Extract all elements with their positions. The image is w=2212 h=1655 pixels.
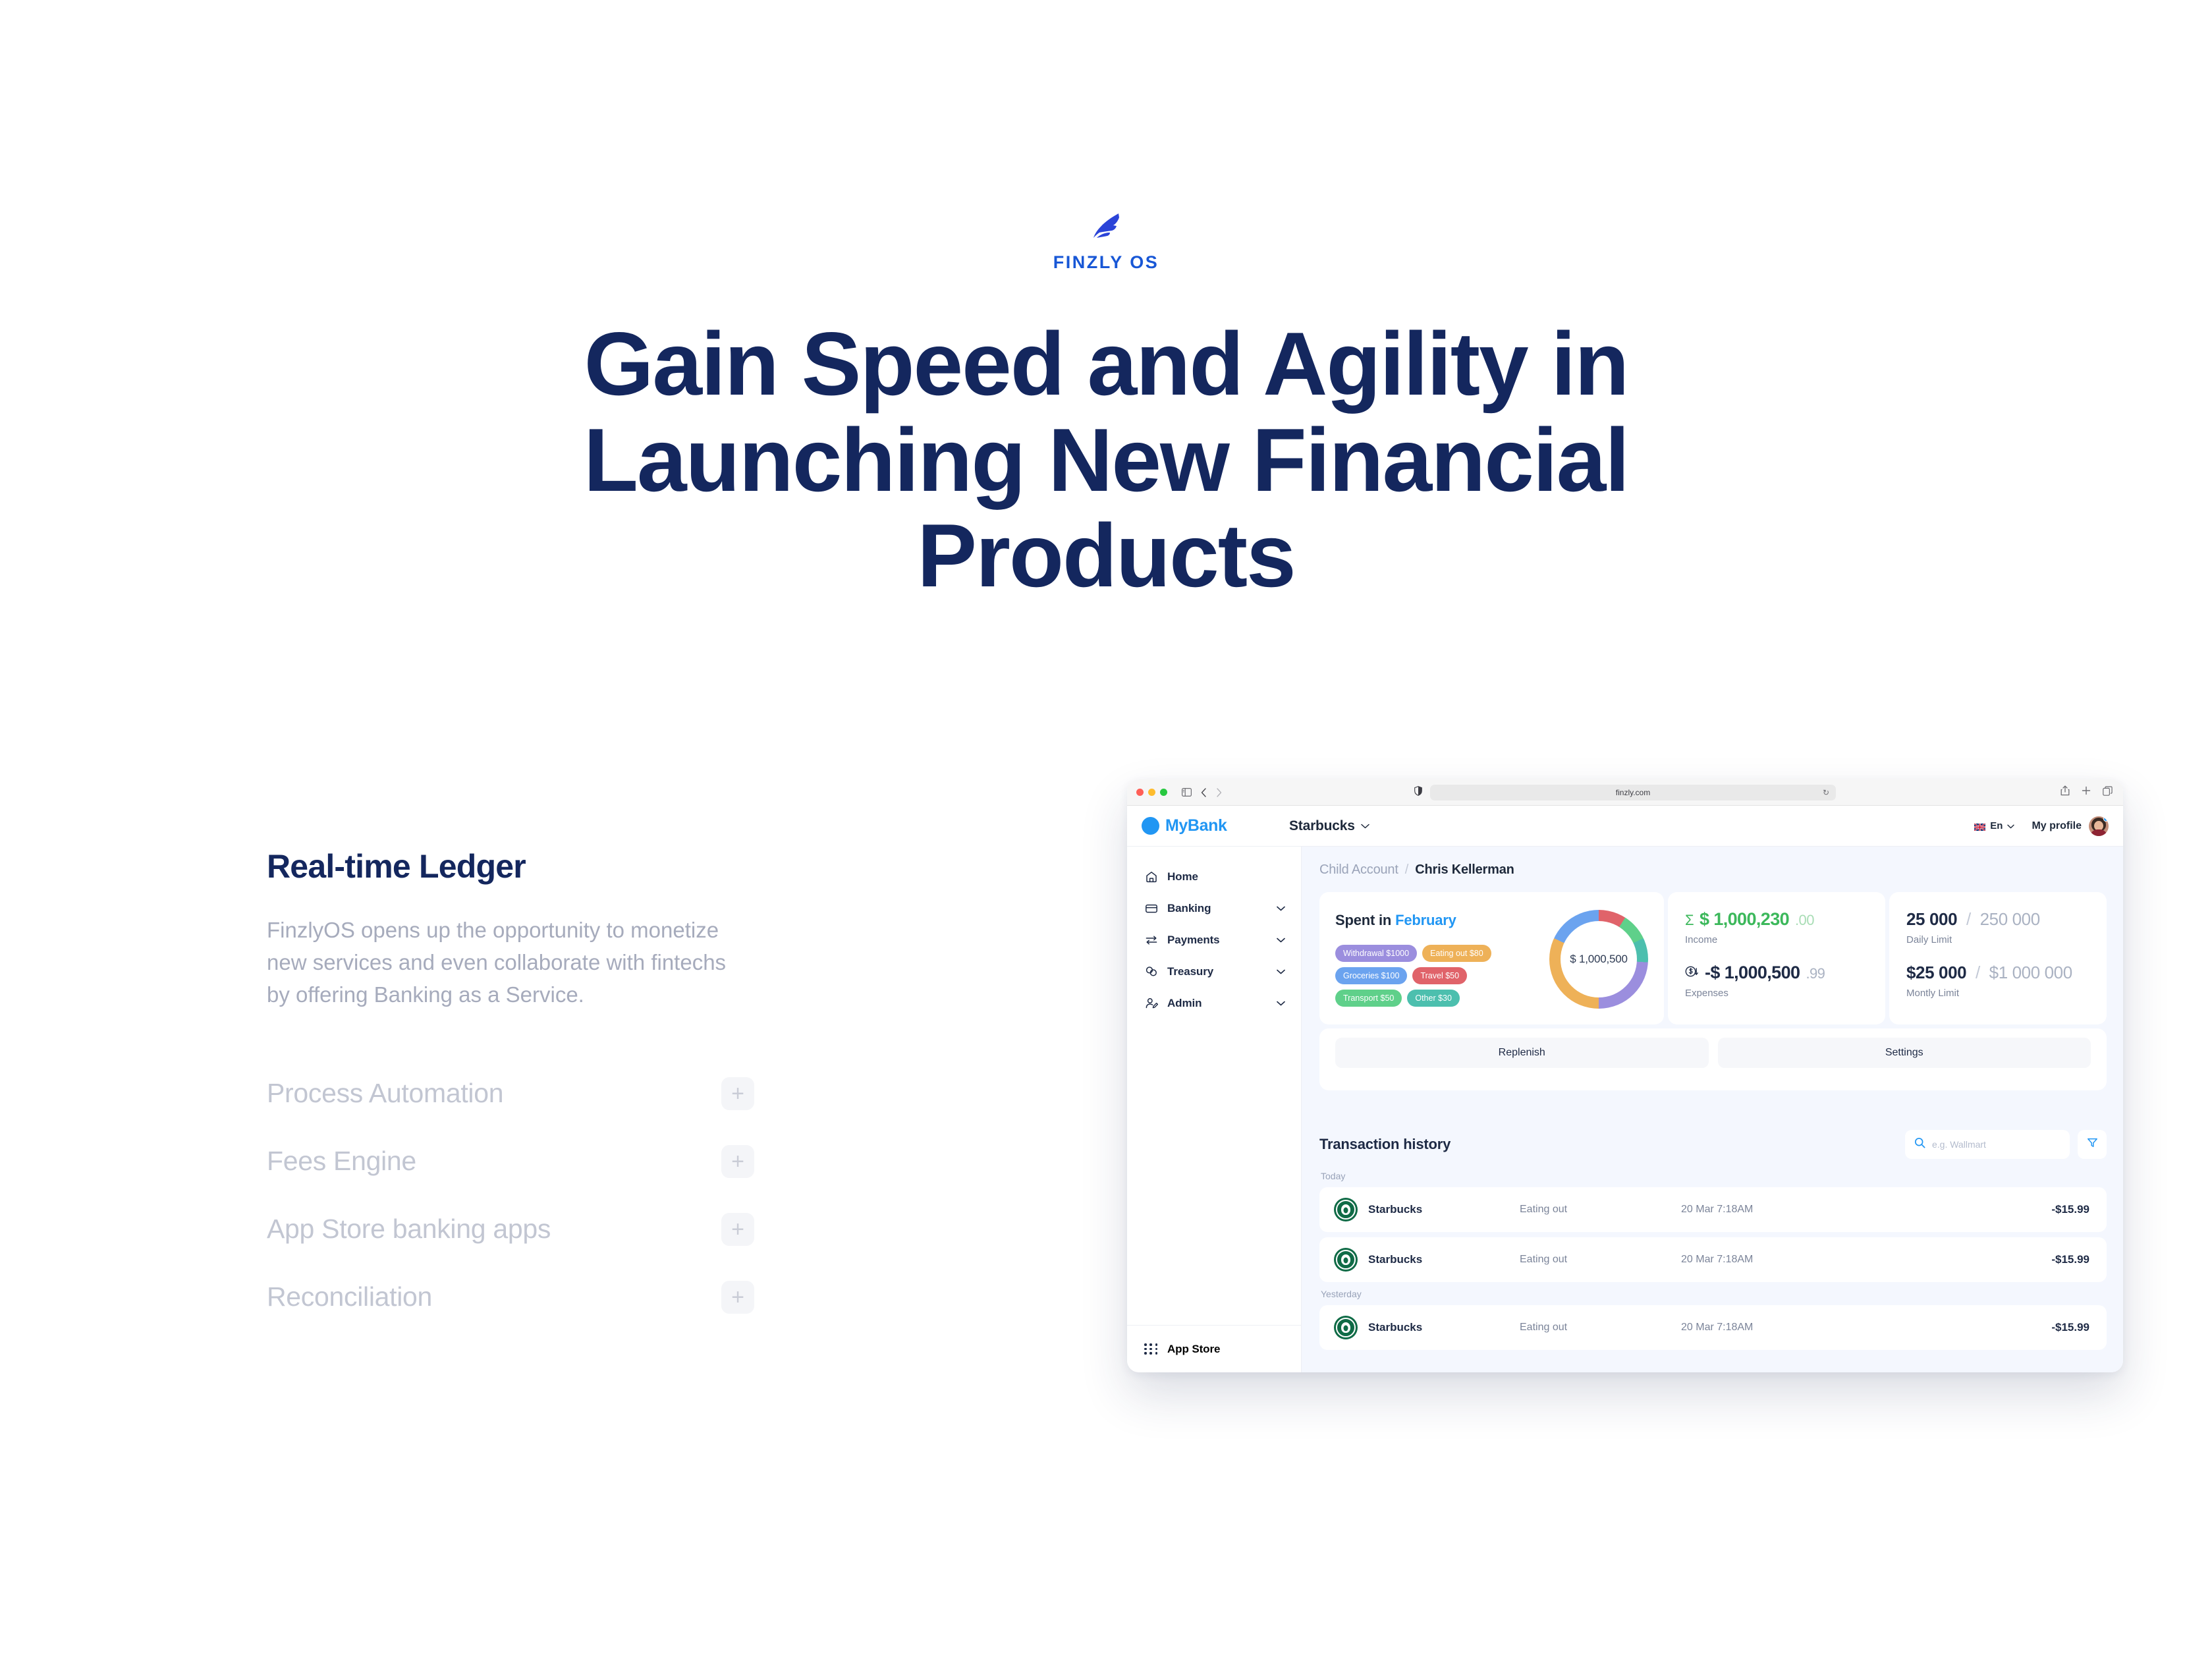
limit-separator: / bbox=[1976, 963, 1980, 982]
brand-name: FINZLY OS bbox=[0, 252, 2212, 273]
sidebar: Home Banking bbox=[1127, 847, 1302, 1372]
category-tag[interactable]: Travel $50 bbox=[1412, 967, 1467, 984]
daily-limit-max: 250 000 bbox=[1980, 909, 2040, 929]
mybank-logo-text: MyBank bbox=[1165, 816, 1227, 835]
user-edit-icon bbox=[1144, 996, 1159, 1011]
expenses-cents: .99 bbox=[1806, 965, 1825, 982]
feature-title: Real-time Ledger bbox=[267, 847, 754, 885]
tabs-icon[interactable] bbox=[2103, 786, 2113, 799]
sidebar-item-label: App Store bbox=[1167, 1343, 1301, 1356]
transaction-date: 20 Mar 7:18AM bbox=[1681, 1204, 1846, 1216]
spending-title-month: February bbox=[1395, 912, 1456, 928]
search-input[interactable]: e.g. Wallmart bbox=[1905, 1130, 2070, 1159]
avatar-body bbox=[2090, 829, 2107, 836]
daily-limit-stat: 25 000 / 250 000 Daily Limit bbox=[1906, 909, 2089, 945]
coins-icon bbox=[1144, 965, 1159, 979]
profile-menu[interactable]: My profile bbox=[2032, 816, 2109, 836]
account-actions: Replenish Settings bbox=[1319, 1028, 2107, 1090]
sigma-icon: Σ bbox=[1685, 912, 1694, 929]
home-icon bbox=[1144, 870, 1159, 884]
feature-description: FinzlyOS opens up the opportunity to mon… bbox=[267, 914, 754, 1011]
category-tag[interactable]: Withdrawal $1000 bbox=[1335, 945, 1417, 962]
transaction-merchant: Starbucks bbox=[1368, 1253, 1520, 1266]
income-value: $ 1,000,230 bbox=[1700, 909, 1789, 930]
sidebar-item-label: Banking bbox=[1167, 902, 1268, 915]
breadcrumb-current: Chris Kellerman bbox=[1415, 862, 1514, 878]
chevron-down-icon[interactable] bbox=[1277, 906, 1285, 911]
transaction-day-label: Yesterday bbox=[1321, 1289, 2107, 1299]
income-stat: Σ $ 1,000,230 .00 Income bbox=[1685, 909, 1868, 945]
category-tag[interactable]: Groceries $100 bbox=[1335, 967, 1407, 984]
starbucks-logo bbox=[1334, 1316, 1358, 1339]
chevron-down-icon[interactable] bbox=[1361, 820, 1369, 832]
sidebar-item-app-store[interactable]: App Store bbox=[1127, 1325, 1301, 1372]
monthly-limit-label: Montly Limit bbox=[1906, 988, 2089, 999]
daily-limit-label: Daily Limit bbox=[1906, 934, 2089, 945]
spending-title-prefix: Spent in bbox=[1335, 912, 1391, 928]
plus-icon[interactable]: + bbox=[721, 1145, 754, 1178]
notification-badge bbox=[2103, 816, 2109, 822]
url-text: finzly.com bbox=[1616, 788, 1650, 797]
traffic-lights bbox=[1136, 789, 1167, 796]
chevron-down-icon[interactable] bbox=[1277, 938, 1285, 943]
accordion-label: Fees Engine bbox=[267, 1146, 416, 1177]
uk-flag-icon bbox=[1974, 822, 1985, 829]
account-switcher[interactable]: Starbucks bbox=[1289, 818, 1369, 834]
category-tags: Withdrawal $1000 Eating out $80 Grocerie… bbox=[1335, 945, 1503, 1007]
limits-card: 25 000 / 250 000 Daily Limit $25 000 / $… bbox=[1889, 892, 2107, 1024]
filter-button[interactable] bbox=[2078, 1130, 2107, 1159]
brand-logo: FINZLY OS bbox=[0, 212, 2212, 273]
accordion-item[interactable]: Fees Engine + bbox=[267, 1127, 754, 1195]
accordion-label: Reconciliation bbox=[267, 1281, 432, 1312]
sidebar-item-payments[interactable]: Payments bbox=[1127, 924, 1301, 956]
sidebar-item-banking[interactable]: Banking bbox=[1127, 893, 1301, 924]
page-title: Gain Speed and Agility in Launching New … bbox=[553, 316, 1659, 604]
sidebar-item-label: Treasury bbox=[1167, 965, 1268, 978]
settings-button[interactable]: Settings bbox=[1718, 1038, 2091, 1068]
transaction-history-header: Transaction history e.g. Wallmart bbox=[1319, 1130, 2107, 1159]
forward-icon[interactable] bbox=[1216, 788, 1222, 797]
browser-toolbar-right bbox=[2060, 785, 2113, 799]
expenses-stat: -$ 1,000,500 .99 Expenses bbox=[1685, 963, 1868, 999]
transaction-category: Eating out bbox=[1520, 1322, 1681, 1333]
spending-card-title: Spent in February bbox=[1335, 912, 1549, 929]
app-body: Home Banking bbox=[1127, 847, 2123, 1372]
grid-icon bbox=[1144, 1343, 1159, 1355]
breadcrumb: Child Account / Chris Kellerman bbox=[1319, 862, 2107, 878]
app-header: MyBank Starbucks En bbox=[1127, 806, 2123, 847]
transfer-icon bbox=[1144, 933, 1159, 947]
language-label: En bbox=[1990, 820, 2003, 831]
sidebar-item-admin[interactable]: Admin bbox=[1127, 988, 1301, 1019]
starbucks-logo bbox=[1334, 1198, 1358, 1221]
sidebar-icon[interactable] bbox=[1182, 788, 1192, 797]
plus-icon[interactable]: + bbox=[721, 1077, 754, 1110]
category-tag[interactable]: Eating out $80 bbox=[1422, 945, 1491, 962]
income-cents: .00 bbox=[1795, 912, 1814, 929]
table-row[interactable]: Starbucks Eating out 20 Mar 7:18AM -$15.… bbox=[1319, 1305, 2107, 1350]
feature-block: Real-time Ledger FinzlyOS opens up the o… bbox=[267, 847, 754, 1011]
monthly-limit-used: $25 000 bbox=[1906, 963, 1966, 982]
spending-donut-chart: $ 1,000,500 bbox=[1549, 910, 1648, 1009]
sidebar-item-treasury[interactable]: Treasury bbox=[1127, 956, 1301, 988]
sidebar-nav: Home Banking bbox=[1127, 847, 1301, 1325]
income-label: Income bbox=[1685, 934, 1868, 945]
finzly-wing-logo bbox=[0, 212, 2212, 246]
search-icon bbox=[1914, 1137, 1925, 1152]
filter-icon bbox=[2087, 1137, 2098, 1152]
accordion-item[interactable]: Reconciliation + bbox=[267, 1263, 754, 1331]
limit-separator: / bbox=[1966, 909, 1971, 929]
transaction-day-label: Today bbox=[1321, 1171, 2107, 1181]
sidebar-item-home[interactable]: Home bbox=[1127, 861, 1301, 893]
transaction-merchant: Starbucks bbox=[1368, 1203, 1520, 1216]
address-bar-area: finzly.com ↻ bbox=[1414, 785, 1836, 800]
profile-label: My profile bbox=[2032, 820, 2082, 832]
transaction-amount: -$15.99 bbox=[2051, 1203, 2089, 1216]
accordion-label: App Store banking apps bbox=[267, 1214, 551, 1245]
card-icon bbox=[1144, 901, 1159, 916]
sidebar-item-label: Payments bbox=[1167, 934, 1268, 947]
dollar-down-icon bbox=[1685, 965, 1699, 982]
income-expense-card: Σ $ 1,000,230 .00 Income -$ 1 bbox=[1668, 892, 1885, 1024]
search-placeholder: e.g. Wallmart bbox=[1932, 1139, 1986, 1150]
minimize-icon[interactable] bbox=[1148, 789, 1155, 796]
transaction-merchant: Starbucks bbox=[1368, 1321, 1520, 1334]
chevron-down-icon[interactable] bbox=[1277, 1001, 1285, 1006]
close-icon[interactable] bbox=[1136, 789, 1144, 796]
chevron-down-icon[interactable] bbox=[2007, 820, 2014, 831]
spending-card: Spent in February Withdrawal $1000 Eatin… bbox=[1319, 892, 1664, 1024]
back-icon[interactable] bbox=[1201, 788, 1207, 797]
breadcrumb-separator: / bbox=[1405, 862, 1409, 878]
summary-cards: Spent in February Withdrawal $1000 Eatin… bbox=[1319, 892, 2107, 1024]
landing-page: FINZLY OS Gain Speed and Agility in Laun… bbox=[0, 0, 2212, 1655]
avatar[interactable] bbox=[2089, 816, 2109, 836]
url-input[interactable]: finzly.com ↻ bbox=[1430, 785, 1836, 800]
shield-icon[interactable] bbox=[1414, 786, 1422, 799]
sidebar-item-label: Admin bbox=[1167, 997, 1268, 1010]
transaction-amount: -$15.99 bbox=[2051, 1253, 2089, 1266]
new-tab-icon[interactable] bbox=[2082, 786, 2091, 799]
replenish-button[interactable]: Replenish bbox=[1335, 1038, 1709, 1068]
accordion-item[interactable]: App Store banking apps + bbox=[267, 1195, 754, 1263]
category-tag[interactable]: Transport $50 bbox=[1335, 990, 1402, 1007]
table-row[interactable]: Starbucks Eating out 20 Mar 7:18AM -$15.… bbox=[1319, 1187, 2107, 1232]
maximize-icon[interactable] bbox=[1160, 789, 1167, 796]
chevron-down-icon[interactable] bbox=[1277, 969, 1285, 974]
transaction-category: Eating out bbox=[1520, 1204, 1681, 1216]
transaction-history-title: Transaction history bbox=[1319, 1136, 1451, 1153]
transaction-group: Today Starbucks Eating out 20 Mar 7:18AM… bbox=[1319, 1171, 2107, 1282]
expenses-label: Expenses bbox=[1685, 988, 1868, 999]
mybank-logo-icon bbox=[1142, 817, 1159, 835]
donut-center-value: $ 1,000,500 bbox=[1549, 910, 1648, 1009]
transaction-amount: -$15.99 bbox=[2051, 1321, 2089, 1334]
language-selector[interactable]: En bbox=[1974, 820, 2014, 831]
table-row[interactable]: Starbucks Eating out 20 Mar 7:18AM -$15.… bbox=[1319, 1237, 2107, 1282]
starbucks-logo bbox=[1334, 1248, 1358, 1272]
feature-accordion: Process Automation + Fees Engine + App S… bbox=[267, 1059, 754, 1331]
breadcrumb-parent[interactable]: Child Account bbox=[1319, 862, 1398, 878]
sidebar-item-label: Home bbox=[1167, 870, 1285, 884]
category-tag[interactable]: Other $30 bbox=[1407, 990, 1460, 1007]
monthly-limit-stat: $25 000 / $1 000 000 Montly Limit bbox=[1906, 963, 2089, 999]
accordion-item[interactable]: Process Automation + bbox=[267, 1059, 754, 1127]
browser-chrome: finzly.com ↻ bbox=[1127, 779, 2123, 806]
share-icon[interactable] bbox=[2060, 785, 2070, 799]
main-content: Child Account / Chris Kellerman Spent in… bbox=[1302, 847, 2123, 1372]
transaction-date: 20 Mar 7:18AM bbox=[1681, 1322, 1846, 1333]
monthly-limit-max: $1 000 000 bbox=[1989, 963, 2072, 982]
transaction-group: Yesterday Starbucks Eating out 20 Mar 7:… bbox=[1319, 1289, 2107, 1350]
expenses-value: -$ 1,000,500 bbox=[1705, 963, 1800, 983]
transaction-date: 20 Mar 7:18AM bbox=[1681, 1254, 1846, 1266]
browser-window-mockup: finzly.com ↻ MyBank bbox=[1127, 779, 2123, 1372]
plus-icon[interactable]: + bbox=[721, 1213, 754, 1246]
accordion-label: Process Automation bbox=[267, 1078, 503, 1109]
transaction-category: Eating out bbox=[1520, 1254, 1681, 1266]
daily-limit-used: 25 000 bbox=[1906, 909, 1957, 929]
account-name: Starbucks bbox=[1289, 818, 1355, 834]
plus-icon[interactable]: + bbox=[721, 1281, 754, 1314]
reload-icon[interactable]: ↻ bbox=[1823, 788, 1829, 797]
mybank-logo[interactable]: MyBank bbox=[1142, 816, 1280, 835]
